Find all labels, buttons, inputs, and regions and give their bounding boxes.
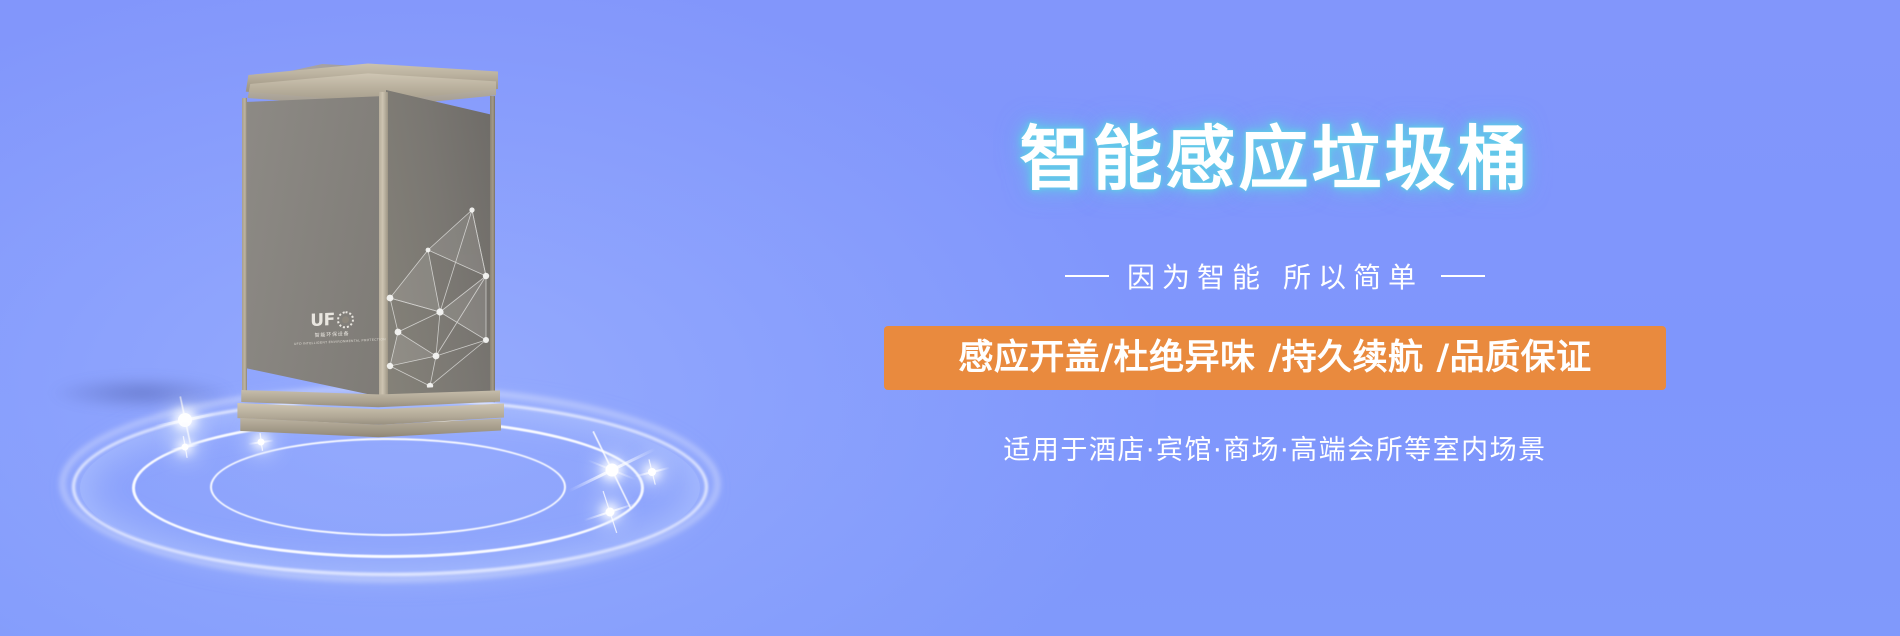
trash-bin-product: UF 智能环保设备 UFO INTELLIGENT ENVIRONMENTAL … [238,60,498,425]
logo-ring-icon [337,311,354,329]
page-title: 智能感应垃圾桶 [860,124,1690,194]
tagline-text: 因为智能 所以简单 [1127,256,1423,296]
product-shadow [52,376,232,410]
tagline-dash-left [1065,275,1109,277]
ripple-ring-inner [210,438,566,536]
brand-logo: UF 智能环保设备 UFO INTELLIGENT ENVIRONMENTAL … [294,310,370,346]
bin-base [232,390,504,448]
feature-badge-text: 感应开盖/杜绝异味 /持久续航 /品质保证 [958,341,1591,376]
usage-scenarios-text: 适用于酒店·宾馆·商场·高端会所等室内场景 [860,428,1690,467]
tagline-dash-right [1441,275,1485,277]
product-stage: UF 智能环保设备 UFO INTELLIGENT ENVIRONMENTAL … [0,0,820,636]
promo-banner: UF 智能环保设备 UFO INTELLIGENT ENVIRONMENTAL … [0,0,1900,636]
bin-edge-left [242,98,247,398]
logo-wordmark: UF [310,312,334,330]
feature-badge: 感应开盖/杜绝异味 /持久续航 /品质保证 [884,326,1666,390]
tagline: 因为智能 所以简单 [860,256,1690,296]
marketing-copy: 智能感应垃圾桶 因为智能 所以简单 感应开盖/杜绝异味 /持久续航 /品质保证 … [860,0,1860,636]
bin-face-left [244,96,386,398]
network-pattern-graphic [386,180,496,390]
